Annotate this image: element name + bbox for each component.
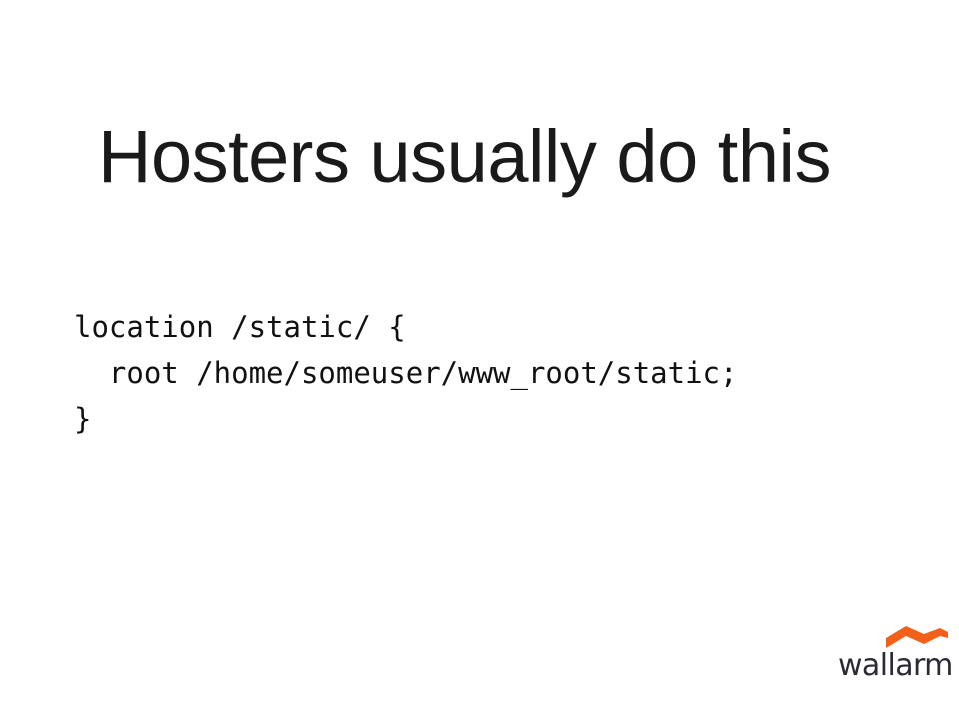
code-block: location /static/ { root /home/someuser/…: [74, 304, 737, 442]
code-line: location /static/ {: [74, 310, 406, 344]
code-line: }: [74, 402, 91, 436]
wallarm-logo: wallarm: [838, 616, 950, 682]
slide: Hosters usually do this location /static…: [0, 0, 959, 720]
page-title: Hosters usually do this: [98, 118, 831, 196]
wallarm-wordmark: wallarm: [838, 650, 953, 682]
wallarm-lightning-mark-icon: [884, 616, 950, 650]
code-line: root /home/someuser/www_root/static;: [74, 356, 737, 390]
